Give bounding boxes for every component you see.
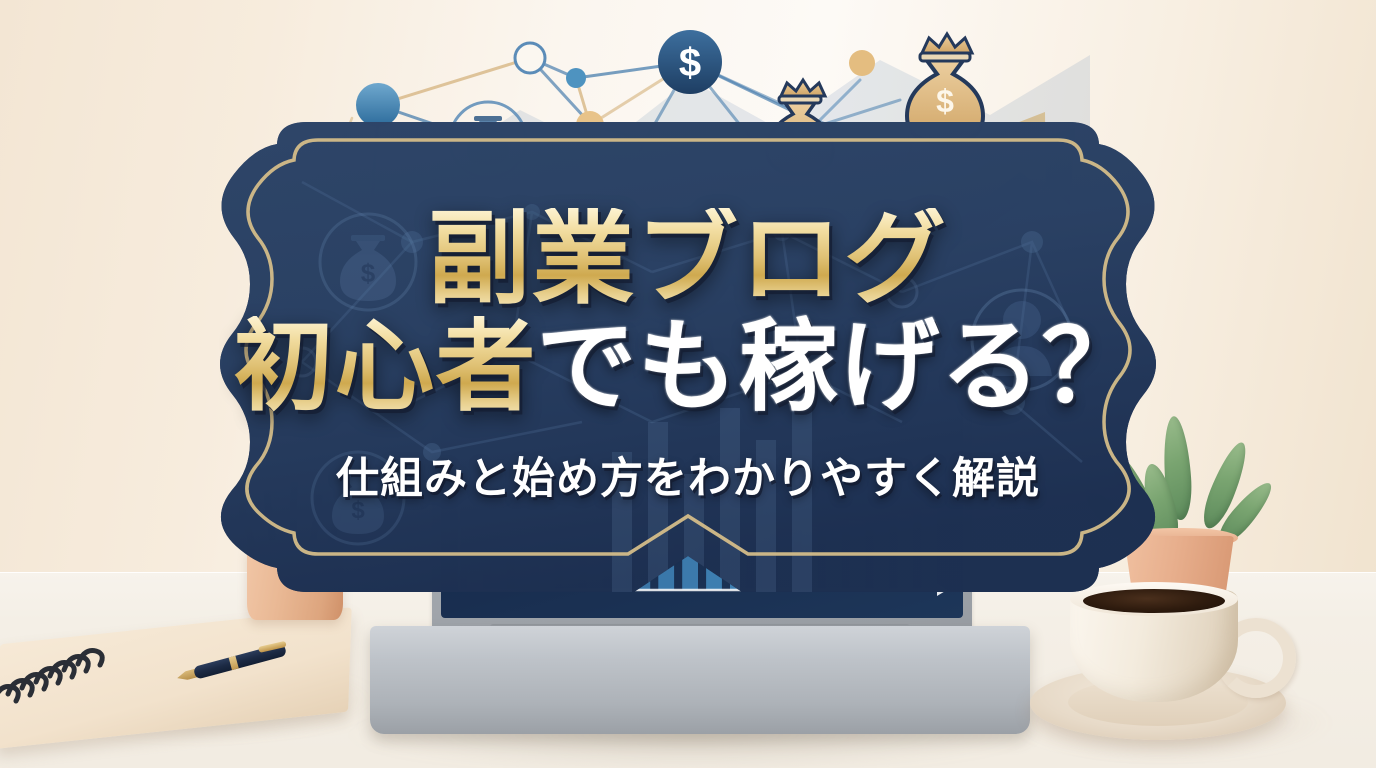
laptop-base <box>370 626 1030 734</box>
svg-text:$: $ <box>351 497 365 524</box>
frame-shape: $ $ <box>182 122 1194 592</box>
svg-text:$: $ <box>679 41 701 85</box>
coffee-liquid <box>1083 589 1225 613</box>
ornate-frame: $ $ <box>182 122 1194 592</box>
banner-canvas: $ $ $ <box>0 0 1376 768</box>
coffee-set <box>1030 578 1290 758</box>
svg-text:$: $ <box>361 258 376 288</box>
notebook-spiral-binding <box>0 622 136 732</box>
dollar-circle-node: $ <box>658 30 722 94</box>
svg-text:$: $ <box>936 83 954 119</box>
